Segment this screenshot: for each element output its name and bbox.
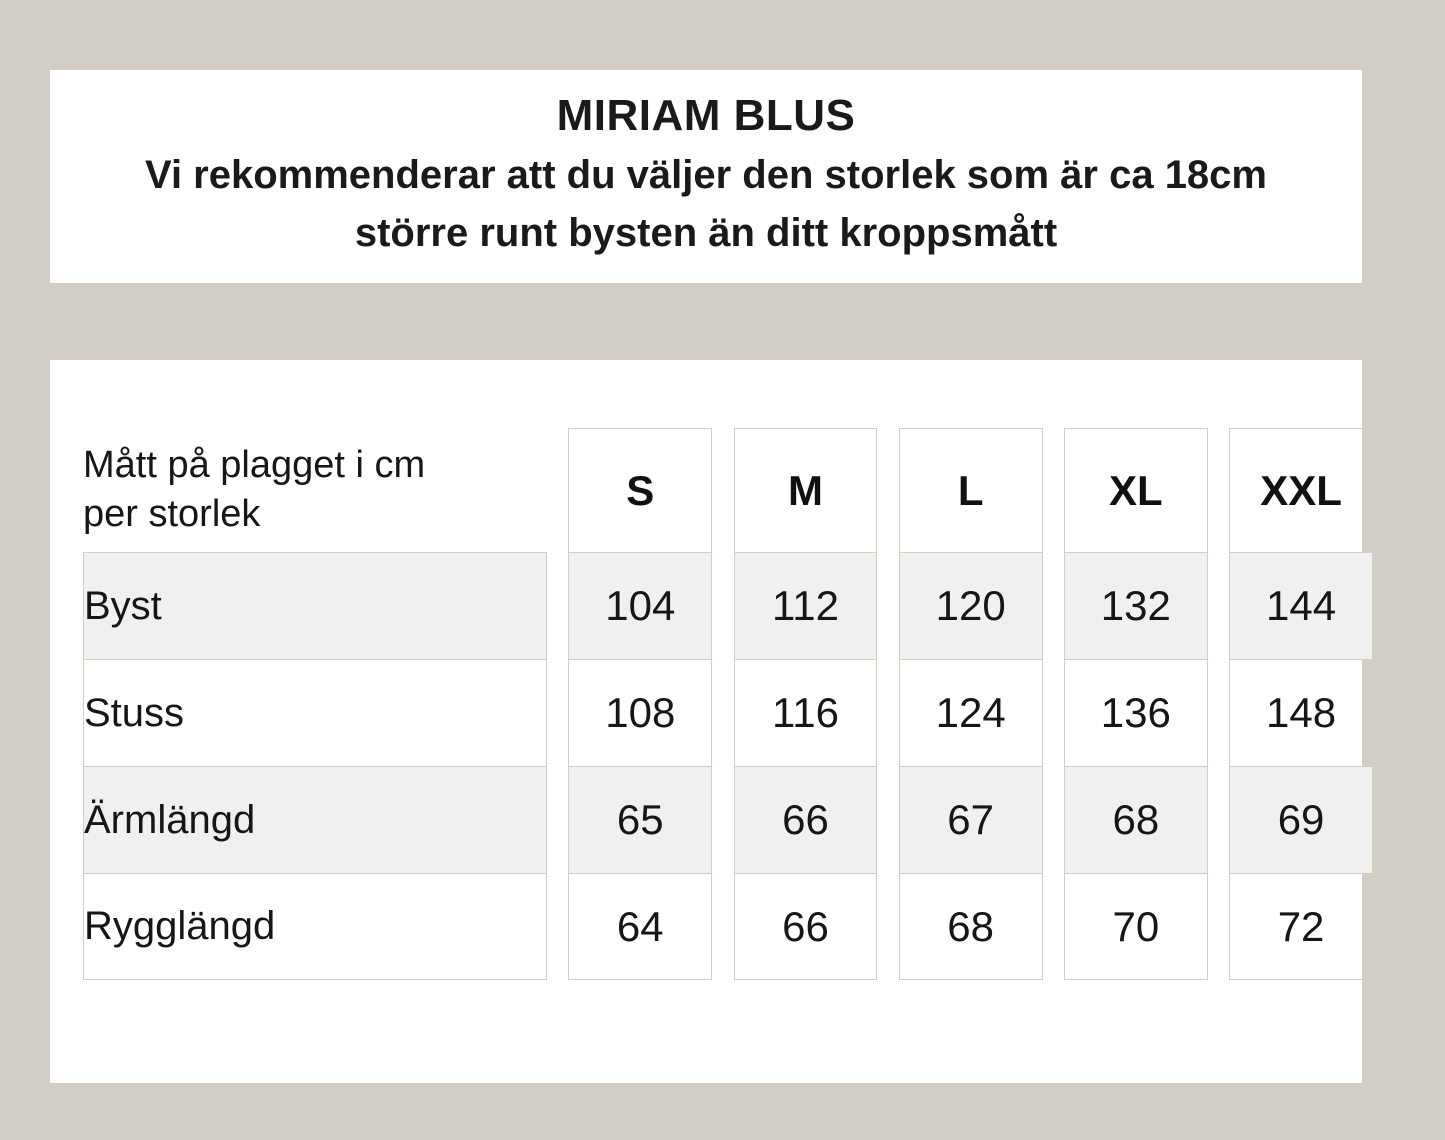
cell-armlangd-m: 66 [734, 766, 878, 873]
measurements-card: Mått på plagget i cm per storlek S M L X… [50, 360, 1362, 1083]
size-header-xl: XL [1064, 428, 1208, 552]
column-gap [547, 659, 568, 766]
column-gap [712, 428, 733, 552]
cell-armlangd-s: 65 [568, 766, 712, 873]
column-gap [1208, 873, 1229, 980]
size-table: Mått på plagget i cm per storlek S M L X… [83, 428, 1373, 980]
column-gap [1208, 428, 1229, 552]
column-gap [547, 552, 568, 659]
column-gap [712, 659, 733, 766]
table-header-row: Mått på plagget i cm per storlek S M L X… [83, 428, 1373, 552]
size-guide-page: MIRIAM BLUS Vi rekommenderar att du välj… [0, 0, 1445, 1140]
column-gap [1043, 873, 1064, 980]
recommendation-text: Vi rekommenderar att du väljer den storl… [145, 146, 1267, 262]
recommendation-line-1: Vi rekommenderar att du väljer den storl… [145, 146, 1267, 204]
column-gap [1043, 428, 1064, 552]
table-row: Rygglängd 64 66 68 70 72 [83, 873, 1373, 980]
cell-rygglangd-l: 68 [899, 873, 1043, 980]
column-gap [547, 873, 568, 980]
column-gap [877, 428, 898, 552]
header-card: MIRIAM BLUS Vi rekommenderar att du välj… [50, 70, 1362, 283]
size-header-xxl: XXL [1229, 428, 1373, 552]
table-row: Ärmlängd 65 66 67 68 69 [83, 766, 1373, 873]
column-gap [547, 428, 568, 552]
column-gap [547, 766, 568, 873]
cell-byst-l: 120 [899, 552, 1043, 659]
column-gap [877, 552, 898, 659]
cell-stuss-m: 116 [734, 659, 878, 766]
measurement-column-header: Mått på plagget i cm per storlek [83, 428, 547, 552]
table-row: Stuss 108 116 124 136 148 [83, 659, 1373, 766]
size-header-m: M [734, 428, 878, 552]
cell-byst-xxl: 144 [1229, 552, 1373, 659]
column-gap [1208, 766, 1229, 873]
cell-rygglangd-xl: 70 [1064, 873, 1208, 980]
table-row: Byst 104 112 120 132 144 [83, 552, 1373, 659]
column-gap [712, 766, 733, 873]
column-gap [1043, 659, 1064, 766]
column-gap [712, 873, 733, 980]
cell-stuss-xl: 136 [1064, 659, 1208, 766]
cell-armlangd-l: 67 [899, 766, 1043, 873]
column-gap [1208, 552, 1229, 659]
recommendation-line-2: större runt bysten än ditt kroppsmått [145, 204, 1267, 262]
column-gap [1043, 766, 1064, 873]
cell-byst-s: 104 [568, 552, 712, 659]
cell-armlangd-xl: 68 [1064, 766, 1208, 873]
cell-stuss-s: 108 [568, 659, 712, 766]
row-label-rygglangd: Rygglängd [83, 873, 547, 980]
column-gap [877, 873, 898, 980]
column-gap [1043, 552, 1064, 659]
column-gap [877, 659, 898, 766]
cell-armlangd-xxl: 69 [1229, 766, 1373, 873]
row-label-byst: Byst [83, 552, 547, 659]
measurement-header-line-2: per storlek [83, 490, 547, 539]
size-header-l: L [899, 428, 1043, 552]
column-gap [1208, 659, 1229, 766]
cell-rygglangd-s: 64 [568, 873, 712, 980]
measurement-header-line-1: Mått på plagget i cm [83, 441, 547, 490]
cell-rygglangd-xxl: 72 [1229, 873, 1373, 980]
cell-stuss-xxl: 148 [1229, 659, 1373, 766]
cell-rygglangd-m: 66 [734, 873, 878, 980]
row-label-stuss: Stuss [83, 659, 547, 766]
cell-byst-m: 112 [734, 552, 878, 659]
cell-stuss-l: 124 [899, 659, 1043, 766]
page-title: MIRIAM BLUS [557, 91, 856, 140]
row-label-armlangd: Ärmlängd [83, 766, 547, 873]
column-gap [877, 766, 898, 873]
cell-byst-xl: 132 [1064, 552, 1208, 659]
size-header-s: S [568, 428, 712, 552]
column-gap [712, 552, 733, 659]
